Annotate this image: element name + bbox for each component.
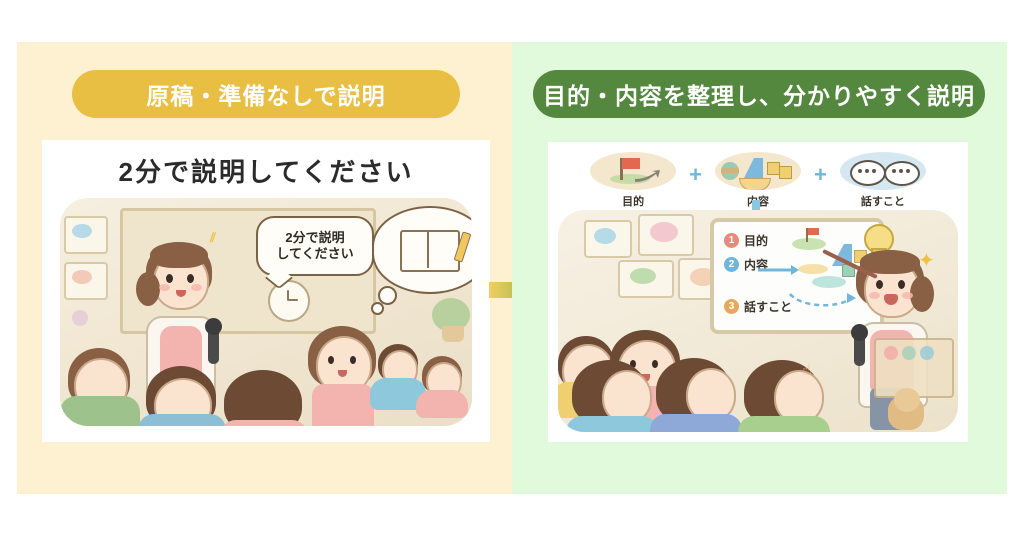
speech-bubble: 2分で説明 してください [256,216,374,276]
board-arrow-2 [788,290,860,308]
notebook-spine [427,230,429,268]
microphone-head [851,324,868,341]
child-eye-right [350,356,356,364]
notebook-icon [400,230,460,272]
whiteboard-badge-2: 2 [724,257,739,272]
speech-bubble-line1: 2分で説明 [285,230,344,246]
toys-ball-slide-blocks-icon [715,152,801,190]
plus-symbol-1: + [689,162,702,188]
plant-pot [442,326,464,342]
concept-label-purpose: 目的 [622,193,644,209]
whiteboard-row: 1 目的 [724,232,768,249]
board-arrow-1 [758,264,800,276]
child-body [738,416,830,432]
teddy-bear-head [894,388,920,412]
speech-bubbles-icon [840,152,926,190]
left-pill-heading: 原稿・準備なしで説明 [72,70,460,118]
wall-picture-art [630,268,656,284]
board-flag-hill [792,238,826,250]
child-body [138,414,226,426]
flag-arrow-icon [590,152,676,190]
teacher-eye-left [166,274,173,283]
pointing-hand: ☝ [802,360,812,380]
child-hair [224,370,302,426]
whiteboard-badge-1: 1 [724,233,739,248]
child-eye-right [652,360,658,368]
teacher-ponytail [910,276,934,312]
wall-picture-art [594,228,616,244]
concept-item-talk: 話すこと [837,152,929,209]
board-flag-cloth [808,228,819,235]
wall-decoration [72,310,88,326]
concept-label-talk: 話すこと [861,193,905,209]
teacher-eye-right [898,280,905,289]
slide-canvas: 原稿・準備なしで説明 2分で説明してください [0,0,1024,538]
plus-symbol-2: + [814,162,827,188]
teacher-fringe [150,242,208,268]
right-pill-heading: 目的・内容を整理し、分かりやすく説明 [533,70,985,118]
child-apron [312,384,374,426]
whiteboard-row: 3 話すこと [724,298,792,315]
child-body [220,420,308,426]
wall-picture-art [72,224,92,238]
left-card-title: 2分で説明してください [42,152,490,189]
left-card: 2分で説明してください [42,140,490,442]
whiteboard-label-3: 話すこと [744,298,792,315]
left-illustration: ⫽ 2分で説明 してください [60,198,472,426]
child-eye-left [328,356,334,364]
toy-ball [920,346,934,360]
teacher-eye-right [187,274,194,283]
concept-item-purpose: 目的 [587,152,679,209]
teacher-eye-left [876,280,883,289]
child-body [416,390,468,418]
teacher-cheek-left [869,292,880,299]
teacher-ponytail [136,272,160,306]
right-card: 目的 + 内容 + [548,142,968,442]
wall-picture-art [650,222,678,242]
child-body [60,396,140,426]
board-sandbox [798,264,828,274]
teacher-cheek-right [191,284,202,291]
wall-picture-art [72,270,92,284]
teacher-cheek-right [902,292,913,299]
toy-ball [902,346,916,360]
toy-ball [884,346,898,360]
board-pool [812,276,846,288]
right-illustration: 1 目的 2 内容 3 話すこと [558,210,958,432]
speech-bubble-line2: してください [276,246,353,262]
whiteboard-label-1: 目的 [744,232,768,249]
whiteboard-badge-3: 3 [724,299,739,314]
child-body [650,414,742,432]
child-body [566,416,658,432]
microphone-head [205,318,222,335]
thought-dot-small [371,302,384,315]
emphasis-mark: ⫽ [210,230,216,246]
teacher-cheek-left [159,284,170,291]
